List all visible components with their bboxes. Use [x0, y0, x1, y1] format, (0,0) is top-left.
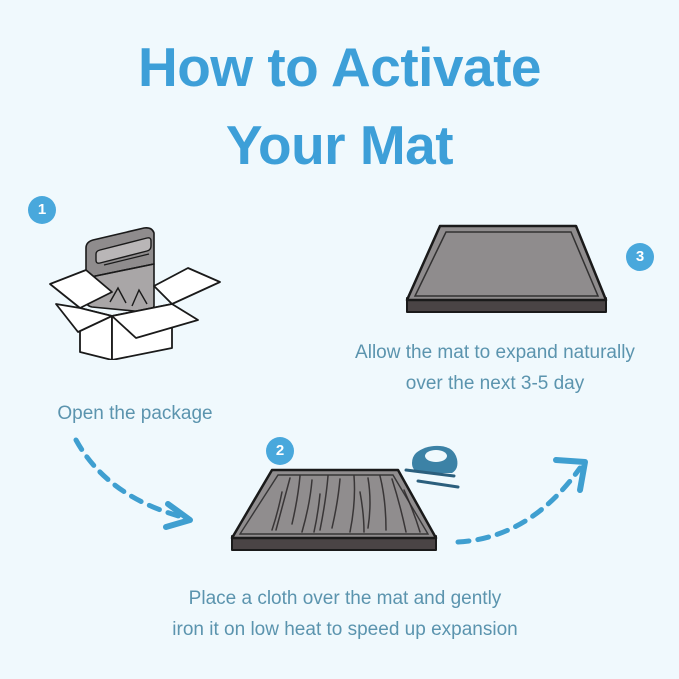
infographic-canvas: How to Activate Your Mat 1 O: [0, 0, 679, 679]
expanded-mat-illustration: [400, 218, 615, 323]
dashed-curved-arrow-down-right: [68, 432, 228, 542]
step-caption-2: Place a cloth over the mat and gently ir…: [115, 583, 575, 645]
step-badge-3: 3: [626, 243, 654, 271]
title-line-1: How to Activate: [0, 28, 679, 106]
page-title: How to Activate Your Mat: [0, 28, 679, 184]
title-line-2: Your Mat: [0, 106, 679, 184]
open-box-illustration: [48, 220, 228, 360]
dashed-curved-arrow-up-right: [452, 442, 602, 552]
step-caption-1: Open the package: [0, 398, 270, 429]
step-caption-3: Allow the mat to expand naturally over t…: [310, 337, 679, 399]
